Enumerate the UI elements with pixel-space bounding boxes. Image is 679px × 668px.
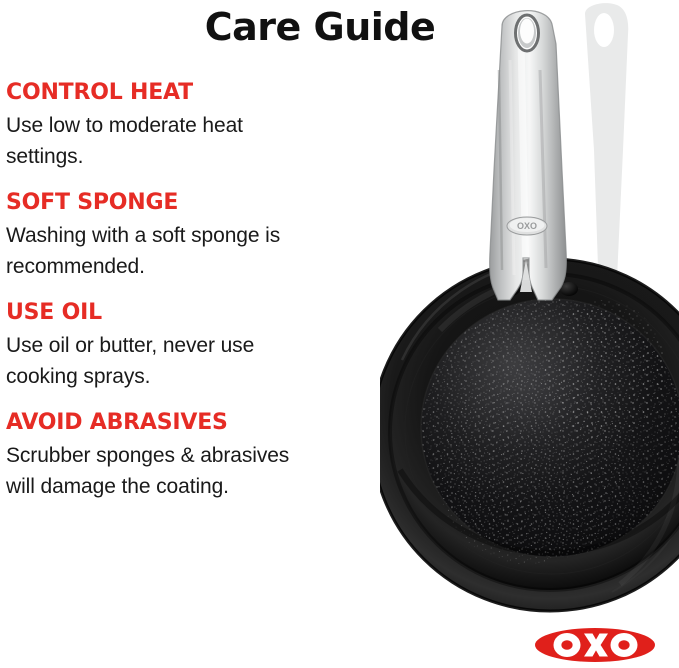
oxo-brand-logo xyxy=(534,626,656,664)
care-body-line: Washing with a soft sponge is xyxy=(6,220,406,251)
care-body-use-oil: Use oil or butter, never use cooking spr… xyxy=(6,330,406,392)
care-section-soft-sponge: SOFT SPONGE Washing with a soft sponge i… xyxy=(6,188,406,282)
care-body-line: recommended. xyxy=(6,251,406,282)
care-instructions-list: CONTROL HEAT Use low to moderate heat se… xyxy=(6,78,406,518)
product-photo-frying-pan: OXO xyxy=(380,0,679,668)
care-body-line: will damage the coating. xyxy=(6,471,406,502)
handle-oxo-badge: OXO xyxy=(507,217,547,235)
care-body-line: cooking sprays. xyxy=(6,361,406,392)
care-section-avoid-abrasives: AVOID ABRASIVES Scrubber sponges & abras… xyxy=(6,408,406,502)
care-section-control-heat: CONTROL HEAT Use low to moderate heat se… xyxy=(6,78,406,172)
care-heading-use-oil: USE OIL xyxy=(6,298,406,328)
care-guide-page: Care Guide CONTROL HEAT Use low to moder… xyxy=(0,0,679,668)
care-body-line: Use low to moderate heat xyxy=(6,110,406,141)
care-heading-avoid-abrasives: AVOID ABRASIVES xyxy=(6,408,406,438)
care-section-use-oil: USE OIL Use oil or butter, never use coo… xyxy=(6,298,406,392)
care-body-soft-sponge: Washing with a soft sponge is recommende… xyxy=(6,220,406,282)
care-body-line: Use oil or butter, never use xyxy=(6,330,406,361)
handle-badge-text: OXO xyxy=(517,221,537,231)
care-heading-control-heat: CONTROL HEAT xyxy=(6,78,406,108)
pan-body xyxy=(380,259,679,611)
care-heading-soft-sponge: SOFT SPONGE xyxy=(6,188,406,218)
care-body-avoid-abrasives: Scrubber sponges & abrasives will damage… xyxy=(6,440,406,502)
pan-handle: OXO xyxy=(490,11,567,300)
care-body-line: settings. xyxy=(6,141,406,172)
care-body-line: Scrubber sponges & abrasives xyxy=(6,440,406,471)
care-body-control-heat: Use low to moderate heat settings. xyxy=(6,110,406,172)
